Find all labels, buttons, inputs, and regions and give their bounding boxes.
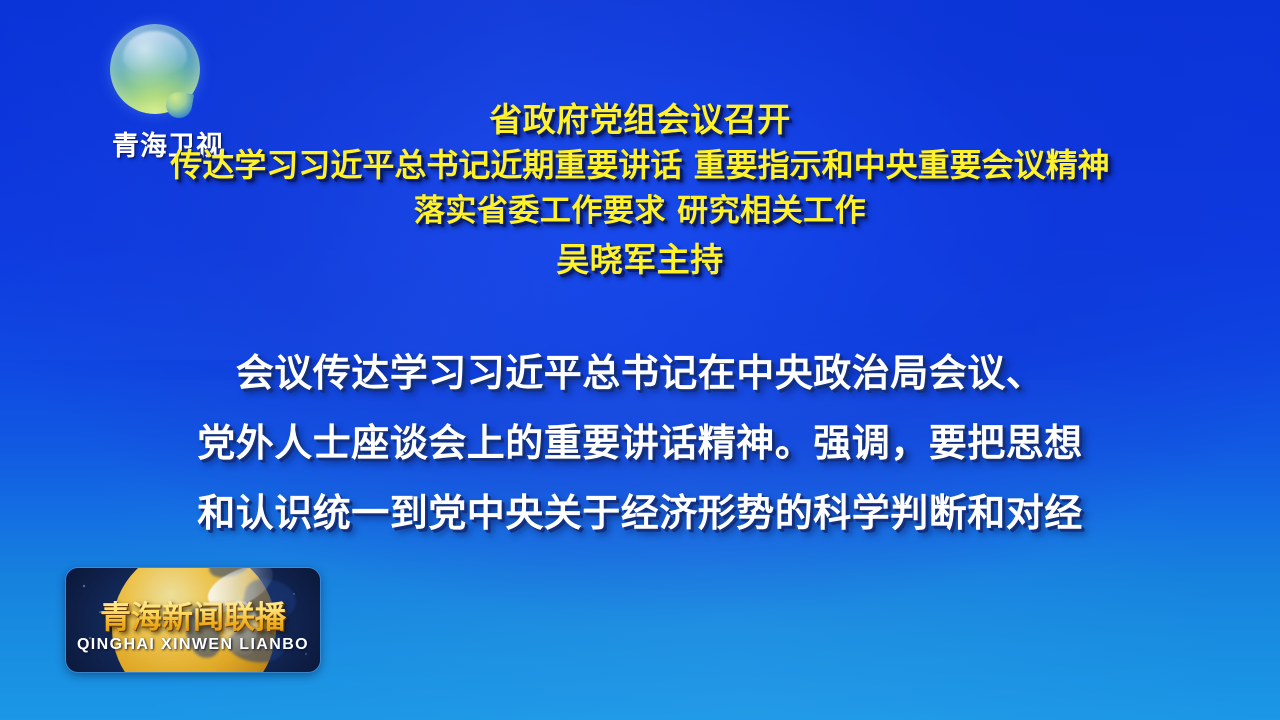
headline-block: 省政府党组会议召开 传达学习习近平总书记近期重要讲话 重要指示和中央重要会议精神… — [0, 98, 1280, 286]
body-line-3: 和认识统一到党中央关于经济形势的科学判断和对经 — [120, 478, 1160, 548]
headline-line-1: 省政府党组会议召开 — [0, 98, 1280, 142]
headline-line-4: 吴晓军主持 — [0, 234, 1280, 286]
broadcast-screen: 青海卫视 省政府党组会议召开 传达学习习近平总书记近期重要讲话 重要指示和中央重… — [0, 0, 1280, 720]
body-line-2: 党外人士座谈会上的重要讲话精神。强调，要把思想 — [120, 408, 1160, 478]
body-line-1: 会议传达学习习近平总书记在中央政治局会议、 — [120, 338, 1160, 408]
bubble-highlight — [123, 31, 187, 75]
programme-badge: 青海新闻联播 QINGHAI XINWEN LIANBO — [66, 568, 320, 672]
programme-title: 青海新闻联播 — [66, 592, 320, 637]
programme-subtitle: QINGHAI XINWEN LIANBO — [66, 636, 320, 654]
body-paragraph: 会议传达学习习近平总书记在中央政治局会议、 党外人士座谈会上的重要讲话精神。强调… — [120, 338, 1160, 548]
headline-line-2: 传达学习习近平总书记近期重要讲话 重要指示和中央重要会议精神 — [0, 142, 1280, 189]
headline-line-3: 落实省委工作要求 研究相关工作 — [0, 189, 1280, 234]
